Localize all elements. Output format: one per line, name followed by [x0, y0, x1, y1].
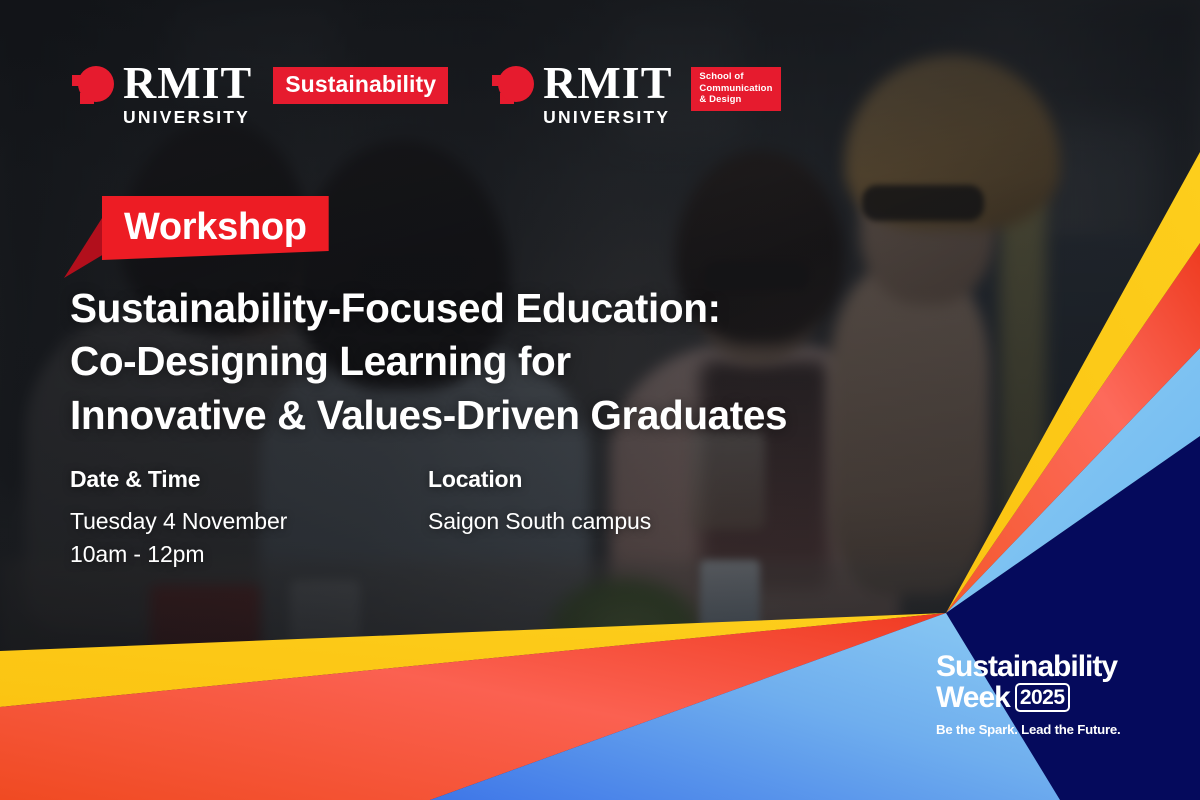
lockup-line-week-year: Week 2025: [936, 683, 1121, 713]
rmit-logo-mark-icon: [72, 66, 114, 108]
rmit-sustainability-logo: RMIT UNIVERSITY Sustainability: [72, 62, 448, 128]
datetime-heading: Date & Time: [70, 466, 350, 493]
logo-row: RMIT UNIVERSITY Sustainability RMIT UNIV…: [72, 62, 781, 128]
workshop-badge: Workshop: [64, 196, 329, 260]
datetime-time: 10am - 12pm: [70, 538, 350, 571]
event-details: Date & Time Tuesday 4 November 10am - 12…: [70, 466, 708, 570]
lockup-line-sustainability: Sustainability: [936, 652, 1121, 682]
page-title: Sustainability-Focused Education: Co-Des…: [70, 282, 787, 442]
workshop-badge-label: Workshop: [102, 196, 329, 260]
rmit-name: RMIT: [543, 62, 672, 104]
location-block: Location Saigon South campus: [428, 466, 708, 570]
school-tag: School of Communication & Design: [691, 67, 780, 111]
event-poster: RMIT UNIVERSITY Sustainability RMIT UNIV…: [0, 0, 1200, 800]
lockup-tagline: Be the Spark. Lead the Future.: [936, 722, 1121, 737]
rmit-university-label: UNIVERSITY: [123, 107, 252, 128]
school-tag-line: School of: [699, 71, 772, 83]
lockup-year: 2025: [1015, 683, 1070, 712]
rmit-wordmark: RMIT UNIVERSITY: [543, 62, 672, 128]
lockup-week: Week: [936, 683, 1010, 713]
rmit-logo-mark-icon: [492, 66, 534, 108]
title-line-1: Sustainability-Focused Education:: [70, 282, 787, 335]
location-heading: Location: [428, 466, 708, 493]
location-venue: Saigon South campus: [428, 505, 708, 538]
sustainability-tag: Sustainability: [273, 67, 448, 104]
datetime-block: Date & Time Tuesday 4 November 10am - 12…: [70, 466, 350, 570]
sustainability-week-lockup: Sustainability Week 2025 Be the Spark. L…: [936, 652, 1121, 737]
school-tag-line: & Design: [699, 94, 772, 106]
datetime-date: Tuesday 4 November: [70, 505, 350, 538]
rmit-wordmark: RMIT UNIVERSITY: [123, 62, 252, 128]
title-line-2: Co-Designing Learning for: [70, 335, 787, 388]
rmit-university-label: UNIVERSITY: [543, 107, 672, 128]
school-tag-line: Communication: [699, 83, 772, 95]
rmit-name: RMIT: [123, 62, 252, 104]
title-line-3: Innovative & Values-Driven Graduates: [70, 389, 787, 442]
rmit-school-logo: RMIT UNIVERSITY School of Communication …: [492, 62, 780, 128]
